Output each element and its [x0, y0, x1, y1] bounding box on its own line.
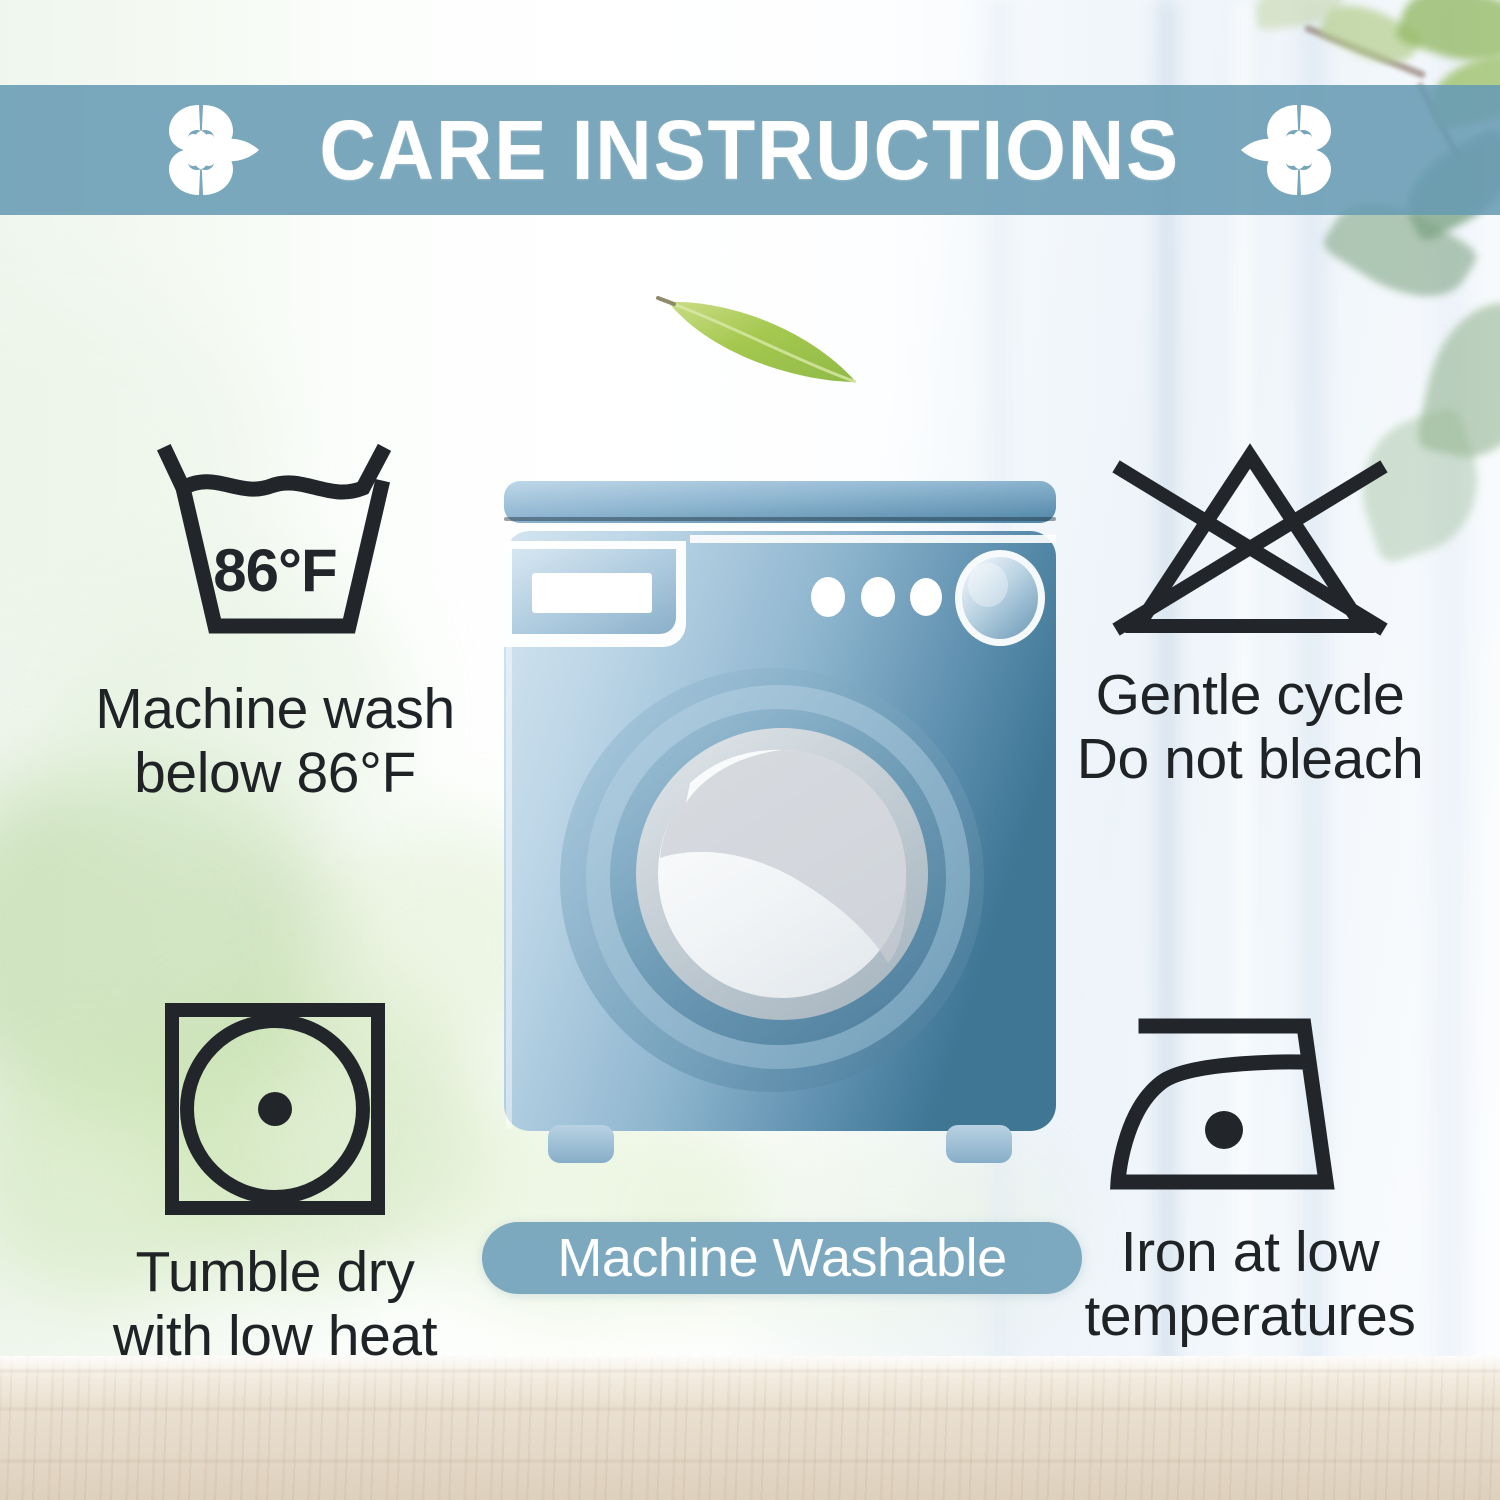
page-title: CARE INSTRUCTIONS [320, 108, 1181, 192]
wash-tub-icon-wrapper: 86°F [125, 440, 425, 655]
care-item-machine-wash: 86°F Machine wash below 86°F [40, 440, 510, 806]
washer-lid [504, 481, 1056, 523]
detergent-drawer [504, 541, 686, 647]
wash-temperature-label: 86°F [125, 536, 425, 605]
indicator-lights [811, 577, 942, 617]
care-item-tumble-dry: Tumble dry with low heat [40, 1000, 510, 1369]
fleur-de-lis-ornament-right [1239, 97, 1359, 203]
care-instructions-banner: CARE INSTRUCTIONS [0, 85, 1500, 215]
control-dial-knob[interactable] [955, 550, 1045, 646]
care-item-caption-machine-wash: Machine wash below 86°F [95, 677, 455, 806]
machine-washable-badge: Machine Washable [482, 1222, 1082, 1294]
machine-washable-badge-label: Machine Washable [557, 1231, 1006, 1285]
iron-low-temperature-icon [1104, 1000, 1396, 1200]
washing-machine-illustration [490, 465, 1070, 1195]
do-not-bleach-triangle-icon [1100, 440, 1400, 645]
washer-door-drum [560, 668, 984, 1092]
floating-leaf-icon [650, 278, 900, 398]
care-item-do-not-bleach: Gentle cycle Do not bleach [1020, 440, 1480, 792]
care-item-caption-do-not-bleach: Gentle cycle Do not bleach [1077, 663, 1424, 792]
fleur-de-lis-ornament-left [141, 97, 261, 203]
tumble-dry-low-icon [160, 1000, 390, 1218]
care-item-caption-iron: Iron at low temperatures [1084, 1220, 1415, 1349]
wooden-table-surface [0, 1356, 1500, 1500]
care-item-iron: Iron at low temperatures [1020, 1000, 1480, 1349]
care-item-caption-tumble-dry: Tumble dry with low heat [113, 1240, 437, 1369]
control-panel-divider [690, 535, 1056, 543]
